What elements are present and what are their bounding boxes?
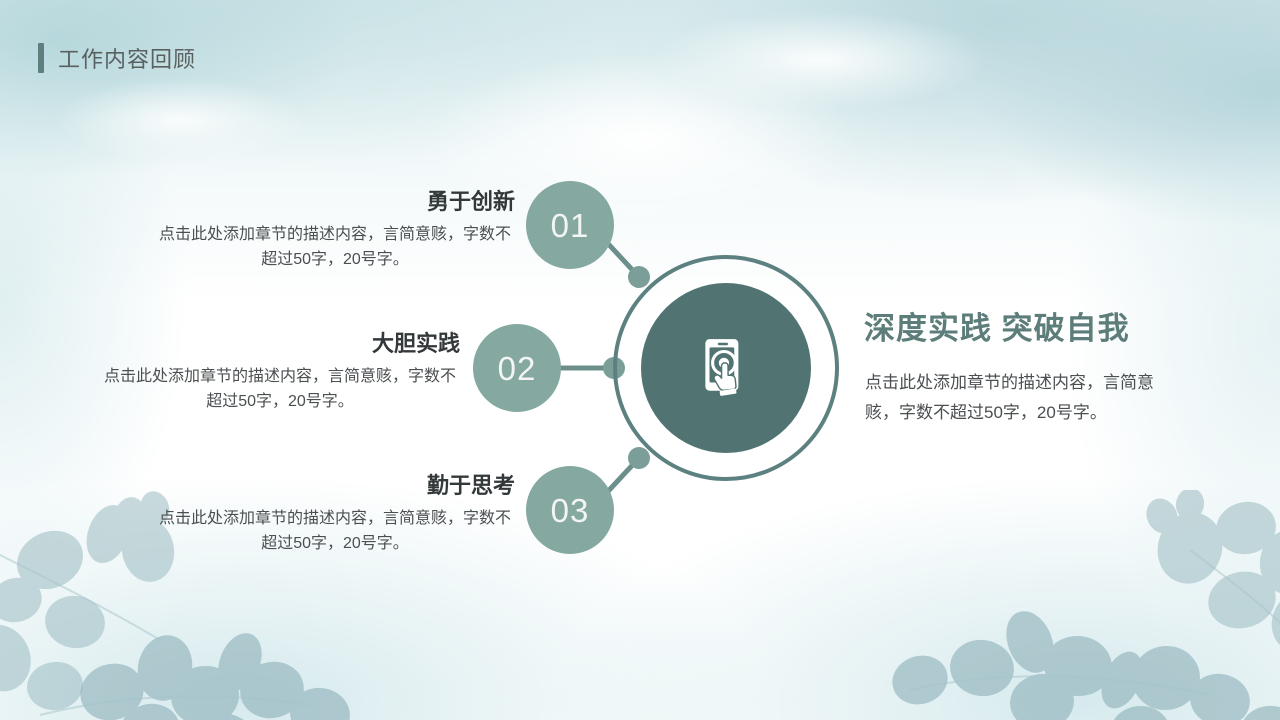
step-title-03: 勤于思考: [155, 474, 515, 498]
summary-title: 深度实践 突破自我: [864, 308, 1149, 350]
connector-dot-03: [628, 447, 650, 469]
step-desc-01: 点击此处添加章节的描述内容，言简意赅，字数不超过50字，20号字。: [155, 223, 515, 273]
summary-desc: 点击此处添加章节的描述内容，言简意赅，字数不超过50字，20号字。: [865, 368, 1155, 428]
touch-smartphone-icon: [693, 335, 759, 401]
slide-canvas: 工作内容回顾 01 02 03 勇于创新 点击此处添加章节: [0, 0, 1280, 720]
step-number-01: 01: [551, 209, 590, 242]
step-title-02: 大胆实践: [100, 332, 460, 356]
step-text-01: 勇于创新 点击此处添加章节的描述内容，言简意赅，字数不超过50字，20号字。: [155, 190, 515, 273]
step-title-01: 勇于创新: [155, 190, 515, 214]
step-text-03: 勤于思考 点击此处添加章节的描述内容，言简意赅，字数不超过50字，20号字。: [155, 474, 515, 557]
step-node-02[interactable]: 02: [473, 324, 561, 412]
step-node-01[interactable]: 01: [526, 181, 614, 269]
step-text-02: 大胆实践 点击此处添加章节的描述内容，言简意赅，字数不超过50字，20号字。: [100, 332, 460, 415]
step-node-03[interactable]: 03: [526, 466, 614, 554]
step-number-03: 03: [551, 494, 590, 527]
step-desc-03: 点击此处添加章节的描述内容，言简意赅，字数不超过50字，20号字。: [155, 507, 515, 557]
step-desc-02: 点击此处添加章节的描述内容，言简意赅，字数不超过50字，20号字。: [100, 365, 460, 415]
hub-center-circle[interactable]: [641, 283, 811, 453]
step-number-02: 02: [498, 352, 537, 385]
connector-dot-01: [628, 266, 650, 288]
